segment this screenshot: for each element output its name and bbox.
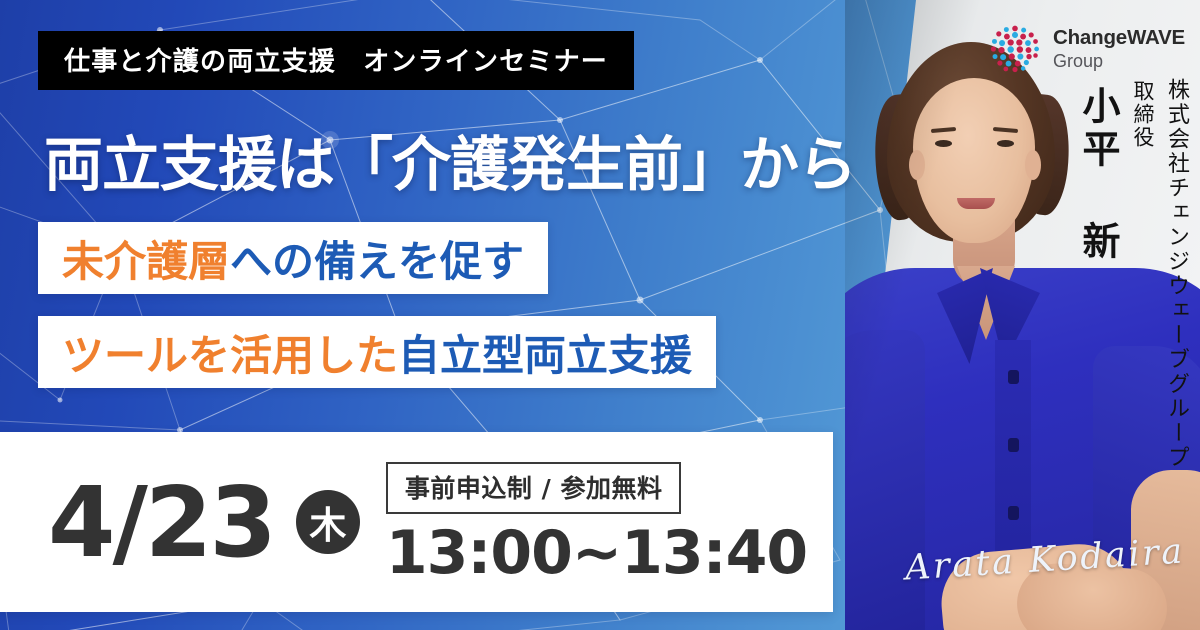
brand-logo: ChangeWAVE Group <box>988 22 1185 76</box>
eyebrow-label: 仕事と介護の両立支援 オンラインセミナー <box>38 31 634 90</box>
schedule-panel: 4/23 木 事前申込制 / 参加無料 13:00~13:40 <box>0 432 833 612</box>
highlight-1-orange: 未介護層 <box>62 228 230 289</box>
highlight-2-blue: 自立型両立支援 <box>398 322 692 383</box>
event-date: 4/23 <box>48 474 274 571</box>
day-of-week-badge: 木 <box>296 490 360 554</box>
speaker-name: 小平 新 <box>1071 86 1126 264</box>
highlight-1-blue: への備えを促す <box>230 228 524 289</box>
page-title: 両立支援は「介護発生前」から <box>44 117 856 202</box>
seminar-banner: Arata Kodaira <box>0 0 1200 630</box>
highlight-row-2: ツールを活用した 自立型両立支援 <box>38 316 716 388</box>
dot-sphere-logo-icon <box>988 22 1042 76</box>
speaker-credit: 小平 新 取締役 株式会社チェンジウェーブグループ <box>1071 78 1192 470</box>
highlight-2-orange: ツールを活用した <box>62 322 398 383</box>
speaker-role: 取締役 <box>1128 80 1158 149</box>
brand-name: ChangeWAVE <box>1053 28 1185 49</box>
event-time: 13:00~13:40 <box>386 523 807 583</box>
highlight-row-1: 未介護層 への備えを促す <box>38 222 548 294</box>
registration-note: 事前申込制 / 参加無料 <box>386 462 682 514</box>
day-of-week-label: 木 <box>309 495 346 549</box>
speaker-company: 株式会社チェンジウェーブグループ <box>1160 78 1192 470</box>
brand-subtitle: Group <box>1053 52 1185 70</box>
